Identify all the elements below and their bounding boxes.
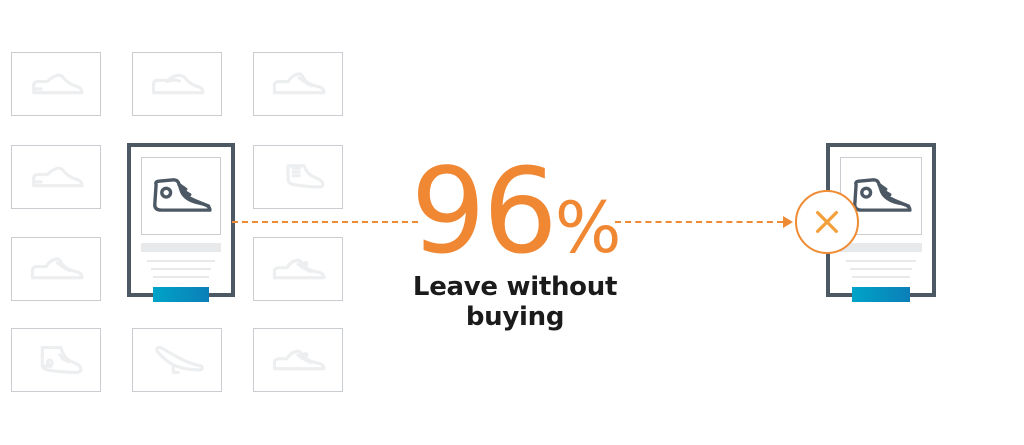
product-thumbnail[interactable] [253, 52, 343, 116]
statistic-caption: Leave without buying [390, 272, 640, 332]
statistic-number: 96 [411, 142, 555, 280]
infographic-canvas: 96% Leave without buying [0, 0, 1024, 445]
add-to-cart-button[interactable] [153, 287, 209, 302]
ankle-boot-icon [267, 157, 329, 197]
sneaker-icon [267, 64, 329, 104]
product-thumbnail[interactable] [253, 237, 343, 301]
sneaker-icon [25, 249, 87, 289]
product-thumbnail[interactable] [11, 237, 101, 301]
product-text-line [153, 276, 209, 278]
product-thumbnail[interactable] [11, 328, 101, 392]
high-top-sneaker-icon [144, 170, 218, 222]
percent-symbol: % [555, 187, 620, 269]
running-shoe-icon [267, 340, 329, 380]
dress-shoe-icon [25, 64, 87, 104]
statistic-block: 96% Leave without buying [390, 152, 640, 332]
running-shoe-icon [267, 249, 329, 289]
product-title-placeholder [141, 243, 221, 252]
high-heel-icon [146, 340, 208, 380]
product-thumbnail[interactable] [132, 52, 222, 116]
arrow-head-icon [783, 216, 793, 228]
work-boot-icon [25, 340, 87, 380]
product-text-line [147, 260, 215, 262]
product-text-line [846, 260, 916, 262]
abandonment-x-badge [795, 190, 859, 254]
statistic-value: 96% [390, 152, 640, 270]
close-x-icon [797, 192, 857, 252]
connector-line-right [615, 221, 783, 223]
product-text-line [151, 268, 211, 270]
product-thumbnail[interactable] [253, 328, 343, 392]
add-to-cart-button[interactable] [852, 287, 910, 302]
product-thumbnail[interactable] [11, 52, 101, 116]
product-text-line [852, 276, 910, 278]
loafer-shoe-icon [146, 64, 208, 104]
selected-product-card[interactable] [127, 143, 235, 297]
product-thumbnail[interactable] [253, 145, 343, 209]
product-thumbnail[interactable] [11, 145, 101, 209]
dress-shoe-icon [25, 157, 87, 197]
product-text-line [850, 268, 912, 270]
product-image-frame [141, 157, 221, 235]
product-thumbnail[interactable] [132, 328, 222, 392]
